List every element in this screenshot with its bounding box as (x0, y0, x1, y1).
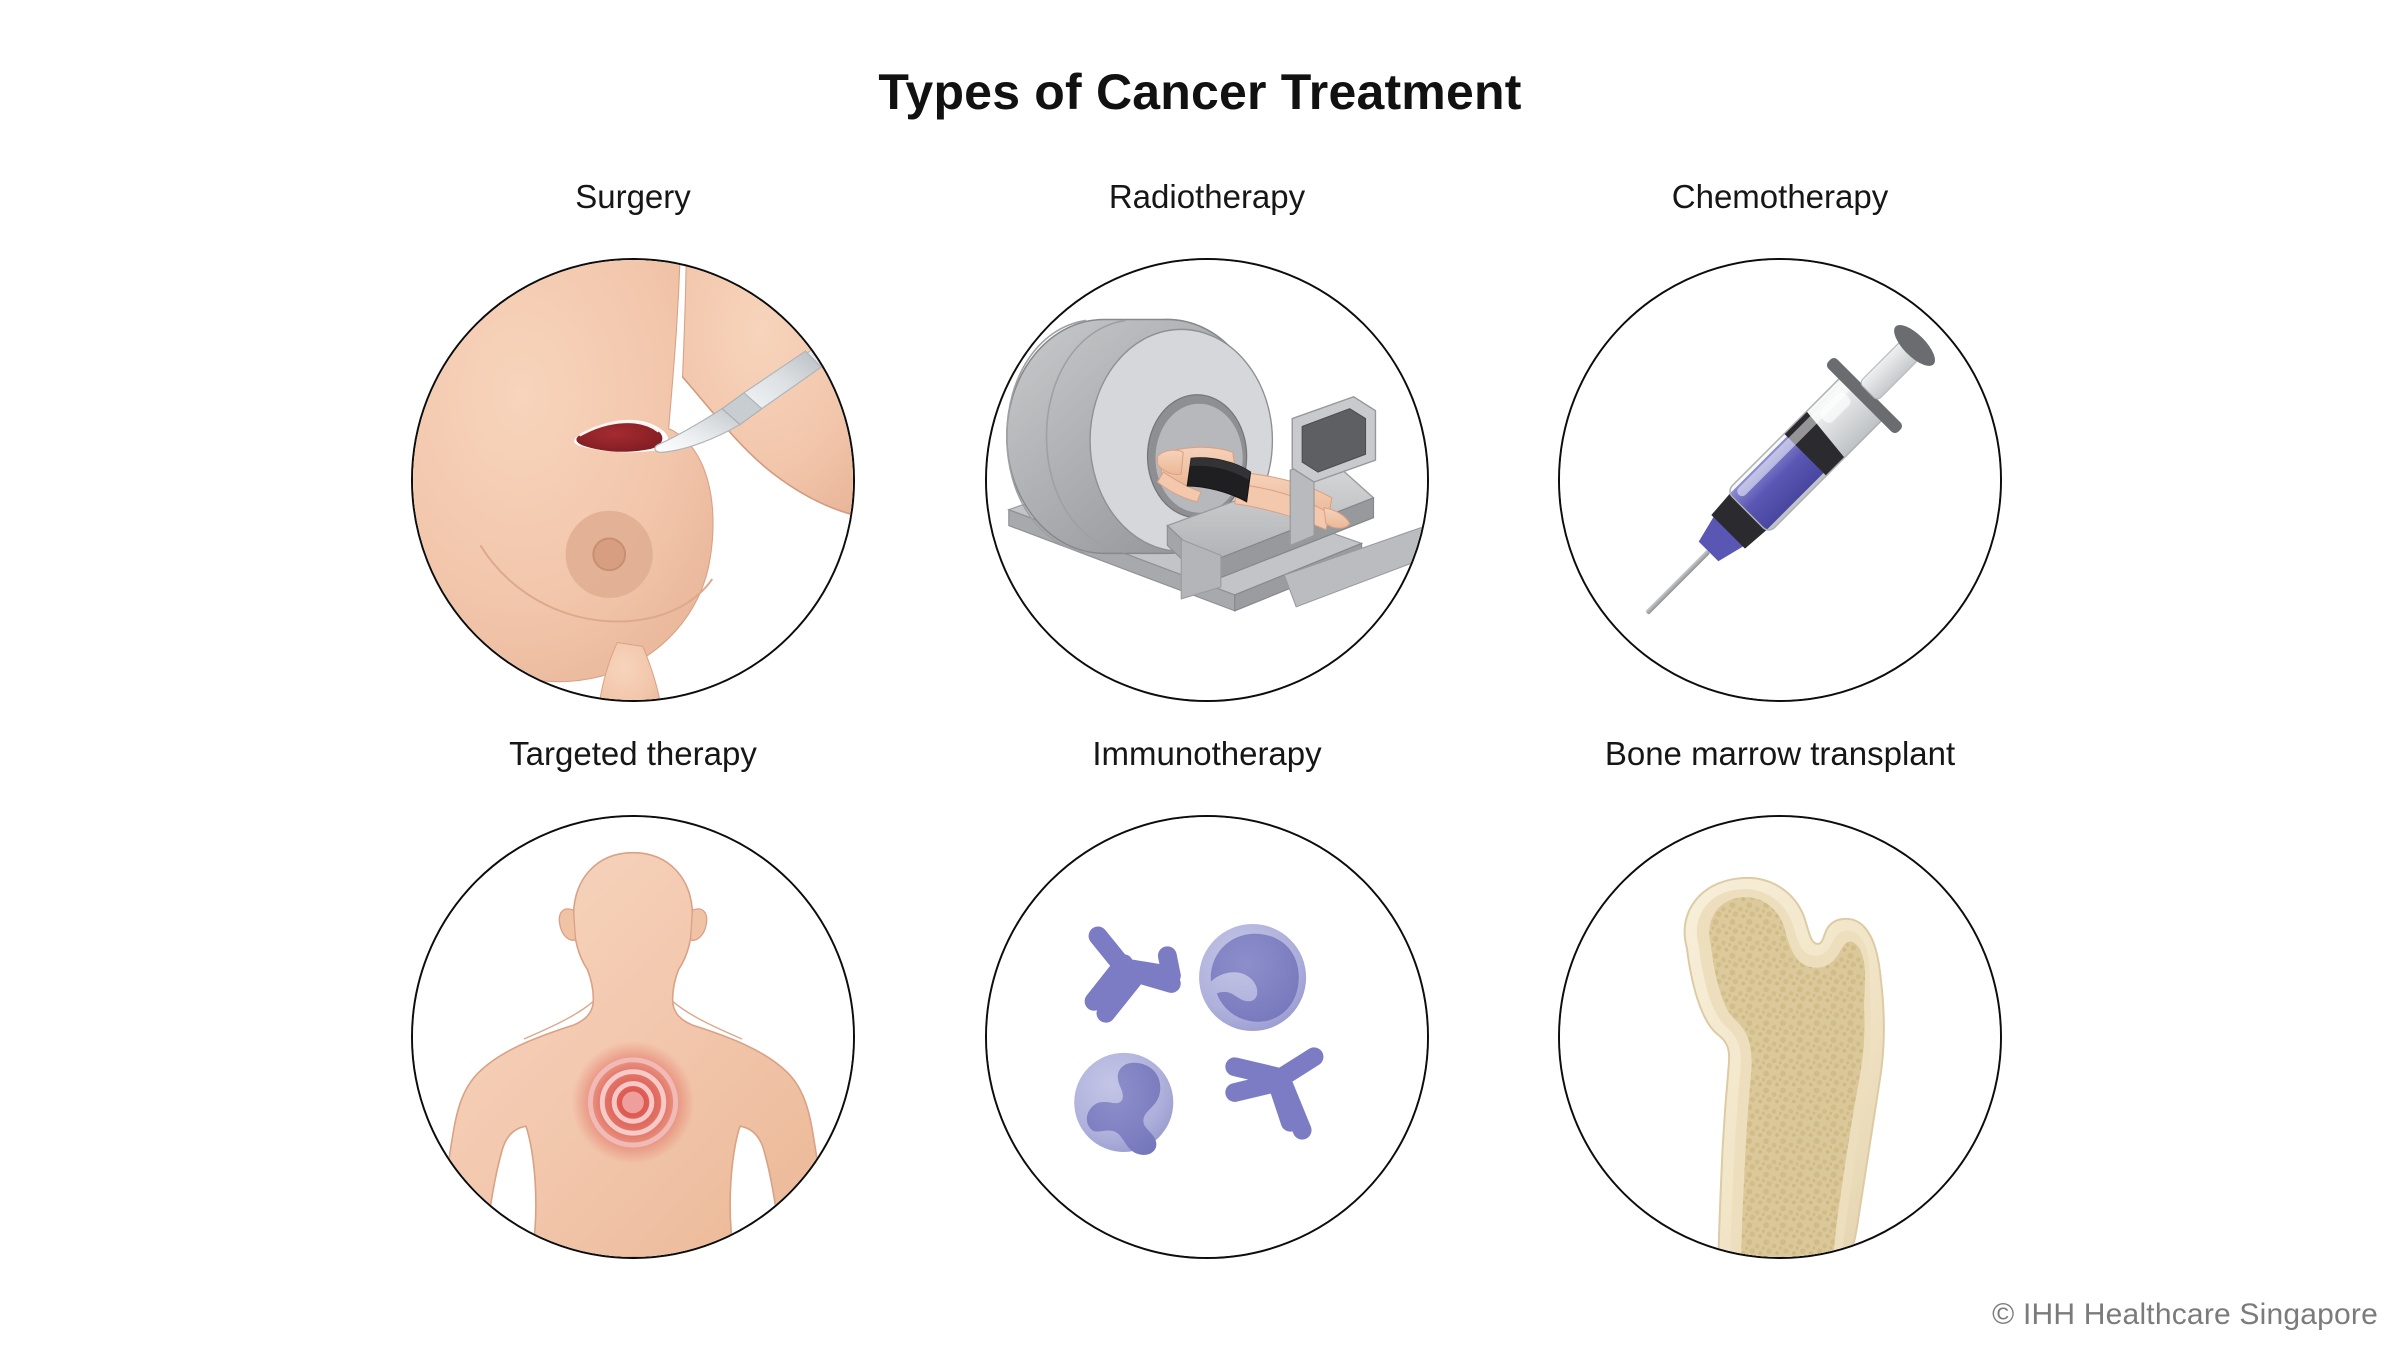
chemotherapy-illustration (1560, 260, 2000, 700)
treatment-label-surgery: Surgery (346, 180, 920, 213)
treatment-label-targeted-therapy: Targeted therapy (346, 737, 920, 770)
radiotherapy-icon (985, 258, 1429, 702)
treatment-item-immunotherapy: Immunotherapy (920, 737, 1494, 1259)
treatment-label-immunotherapy: Immunotherapy (920, 737, 1494, 770)
bone-marrow-illustration (1560, 817, 2000, 1257)
targeted-therapy-illustration (413, 817, 853, 1257)
treatment-label-chemotherapy: Chemotherapy (1493, 180, 2067, 213)
chemotherapy-icon (1558, 258, 2002, 702)
page-title: Types of Cancer Treatment (0, 65, 2400, 120)
radiotherapy-illustration (987, 260, 1427, 700)
surgery-illustration (413, 260, 853, 700)
bone-marrow-icon (1558, 815, 2002, 1259)
treatment-grid: Surgery (0, 180, 2400, 1260)
treatment-label-bone-marrow-transplant: Bone marrow transplant (1493, 737, 2067, 770)
targeted-therapy-icon (411, 815, 855, 1259)
immunotherapy-illustration (987, 817, 1427, 1257)
immunotherapy-icon (985, 815, 1429, 1259)
treatment-item-surgery: Surgery (346, 180, 920, 702)
treatment-item-bone-marrow-transplant: Bone marrow transplant (1493, 737, 2067, 1259)
copyright-notice: © IHH Healthcare Singapore (1992, 1298, 2378, 1332)
treatment-item-targeted-therapy: Targeted therapy (346, 737, 920, 1259)
treatment-item-chemotherapy: Chemotherapy (1493, 180, 2067, 702)
immune-cell-shape (1199, 924, 1306, 1031)
treatment-label-radiotherapy: Radiotherapy (920, 180, 1494, 213)
treatment-item-radiotherapy: Radiotherapy (920, 180, 1494, 702)
surgery-icon (411, 258, 855, 702)
